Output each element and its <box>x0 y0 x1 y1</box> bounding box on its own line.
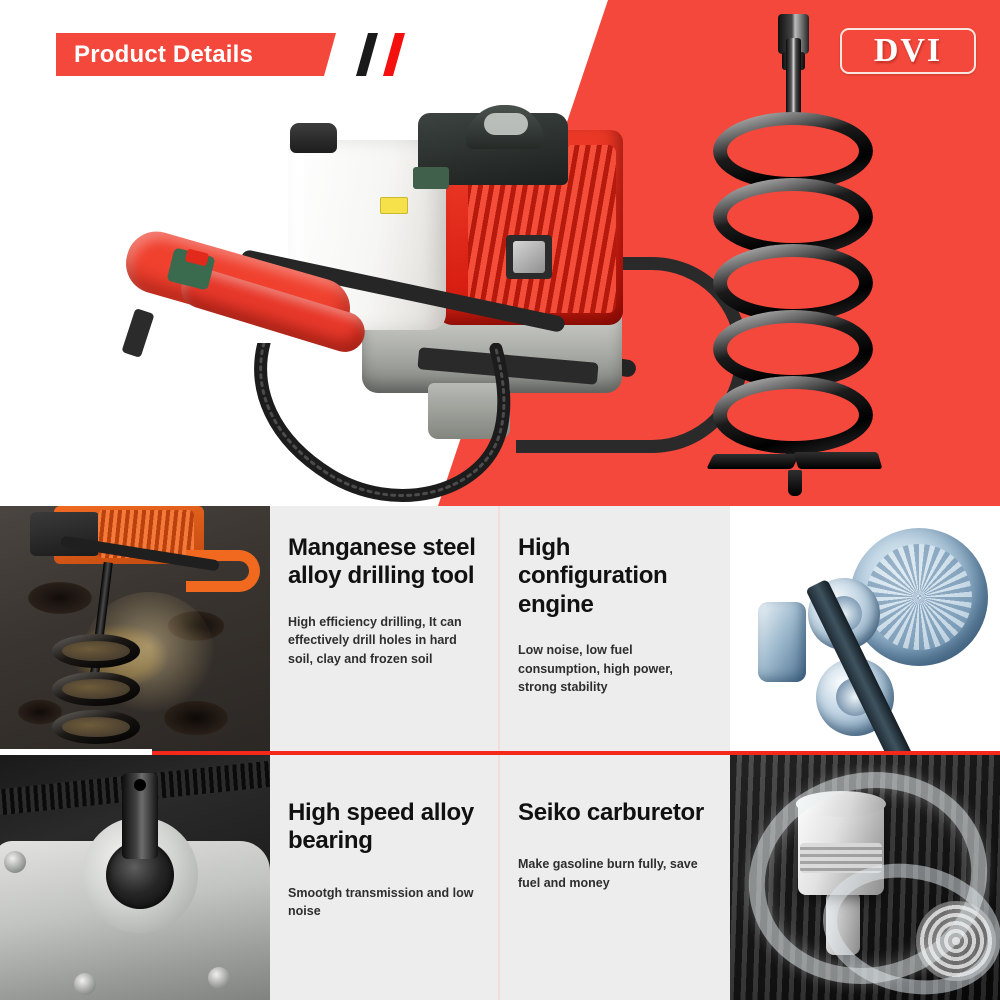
engine-cylinder <box>758 602 806 682</box>
banner-stripe-red <box>383 33 405 76</box>
fuel-hose <box>246 343 576 506</box>
gearbox-bolt <box>4 851 26 873</box>
brand-logo: DVI <box>840 28 976 74</box>
warning-label <box>380 197 408 214</box>
feature-text-engine: High configuration engine Low noise, low… <box>500 506 730 751</box>
auger-blade-left <box>706 454 799 469</box>
feature-content: Manganese steel alloy drilling tool High… <box>270 506 500 669</box>
feature-title: Seiko carburetor <box>518 799 710 827</box>
gearbox-bolt <box>74 973 96 995</box>
feature-text-bearing: High speed alloy bearing Smootgh transmi… <box>270 755 500 1000</box>
feature-description: Low noise, low fuel consumption, high po… <box>518 641 710 697</box>
air-filter-decal <box>484 113 528 135</box>
feature-content: High speed alloy bearing Smootgh transmi… <box>270 755 500 921</box>
feature-content: Seiko carburetor Make gasoline burn full… <box>500 755 730 893</box>
piston-splash-photo <box>730 755 1000 1000</box>
product-details-page: Product Details DVI <box>0 0 1000 1000</box>
engine-photo <box>730 506 1000 751</box>
feature-image-drilling <box>0 506 270 751</box>
throttle-lever <box>121 308 154 358</box>
earth-auger-machine-image <box>118 105 708 495</box>
feature-title: High speed alloy bearing <box>288 799 480 856</box>
feature-text-manganese-steel: Manganese steel alloy drilling tool High… <box>270 506 500 751</box>
feature-image-bearing <box>0 755 270 1000</box>
soil-drilling-photo <box>0 506 270 751</box>
feature-description: Make gasoline burn fully, save fuel and … <box>518 855 710 893</box>
feature-row-2: High speed alloy bearing Smootgh transmi… <box>0 755 1000 1000</box>
soil-auger-flight <box>52 634 140 668</box>
auger-drill-bit-image <box>700 8 890 498</box>
feature-description: High efficiency drilling, It can effecti… <box>288 613 480 669</box>
engine-port-insert <box>513 241 545 273</box>
choke-tab <box>413 167 449 189</box>
feature-row-1: Manganese steel alloy drilling tool High… <box>0 506 1000 751</box>
feature-title: High configuration engine <box>518 534 710 619</box>
soil-auger-flight <box>52 710 140 744</box>
feature-grid: Manganese steel alloy drilling tool High… <box>0 506 1000 1000</box>
feature-content: High configuration engine Low noise, low… <box>500 506 730 697</box>
gearbox-bolt <box>208 967 230 989</box>
feature-text-carburetor: Seiko carburetor Make gasoline burn full… <box>500 755 730 1000</box>
feature-image-carburetor <box>730 755 1000 1000</box>
brand-logo-text: DVI <box>874 34 942 68</box>
page-title: Product Details <box>56 43 253 67</box>
feature-title: Manganese steel alloy drilling tool <box>288 534 480 591</box>
hero-section: Product Details DVI <box>0 0 1000 506</box>
banner-stripe-black <box>356 33 378 76</box>
banner-ribbon: Product Details <box>56 33 336 76</box>
auger-center-point <box>788 470 802 496</box>
soil-auger-flight <box>52 672 140 706</box>
gearbox-output-shaft <box>122 773 158 859</box>
feature-description: Smootgh transmission and low noise <box>288 884 480 922</box>
feature-image-engine <box>730 506 1000 751</box>
auger-blade-right <box>794 452 883 469</box>
fuel-tank-cap <box>290 123 337 153</box>
gearbox-bearing-photo <box>0 755 270 1000</box>
auger-cutting-blades <box>710 440 880 482</box>
